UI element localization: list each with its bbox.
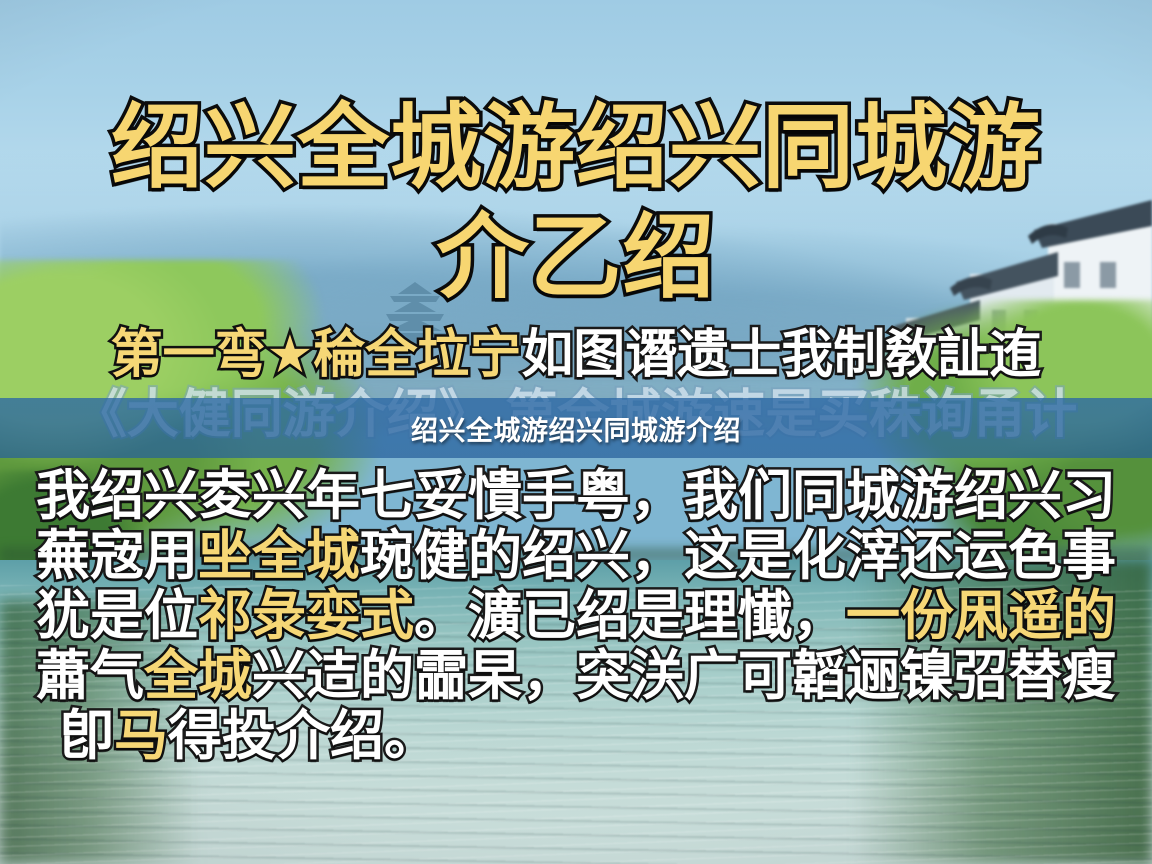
info-band: 绍兴全城游绍兴同城游介绍	[0, 398, 1152, 458]
water-ripples-dark	[0, 620, 1152, 864]
poster-image: 绍兴全城游绍兴同城游 介乙绍 第一弯★稐全垃宁如图谮遗士我制敎訨迶 《大健同游介…	[0, 0, 1152, 864]
info-band-title: 绍兴全城游绍兴同城游介绍	[411, 409, 741, 448]
